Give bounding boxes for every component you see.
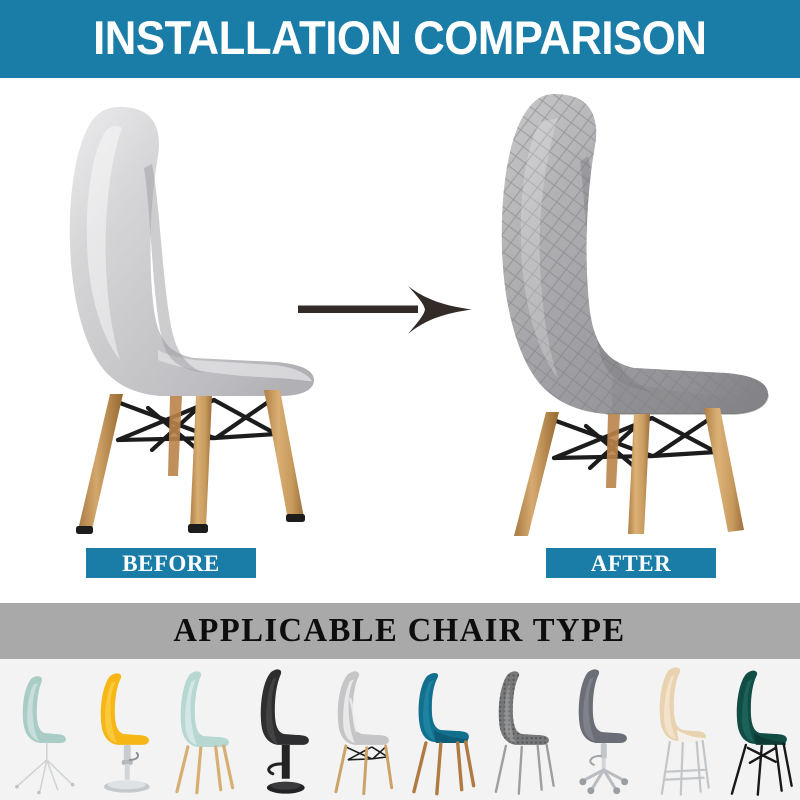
header-banner: INSTALLATION COMPARISON [0,0,800,78]
chair-thumb-yellow-swivel[interactable] [82,664,162,798]
section-title: APPLICABLE CHAIR TYPE [174,614,626,648]
before-label-badge: BEFORE [86,548,256,578]
chair-thumb-dark-green-wire[interactable] [718,664,798,798]
after-label-text: AFTER [591,552,671,575]
chair-thumb-cream-bar-stool[interactable] [639,664,719,798]
page-title: INSTALLATION COMPARISON [93,14,706,64]
chair-thumb-transparent-eames[interactable] [320,664,400,798]
product-infographic: INSTALLATION COMPARISON [0,0,800,800]
applicable-chair-thumbnails [0,659,800,800]
chair-bare [18,78,338,538]
chair-covered [462,78,782,538]
chair-thumb-mint-wood-leg[interactable] [161,664,241,798]
chair-thumb-gray-perforated[interactable] [480,664,560,798]
section-band: APPLICABLE CHAIR TYPE [0,603,800,659]
chair-thumb-black-bar-stool[interactable] [241,664,321,798]
after-chair-image [462,78,782,538]
chair-thumb-mint-spider[interactable] [2,664,82,798]
comparison-section: BEFORE AFTER [0,78,800,603]
chair-thumb-gray-office-caster[interactable] [559,664,639,798]
after-label-badge: AFTER [546,548,716,578]
before-label-text: BEFORE [122,552,220,575]
before-chair-image [18,78,338,538]
transition-arrow [296,274,476,346]
chair-thumb-teal-upholstered[interactable] [400,664,480,798]
